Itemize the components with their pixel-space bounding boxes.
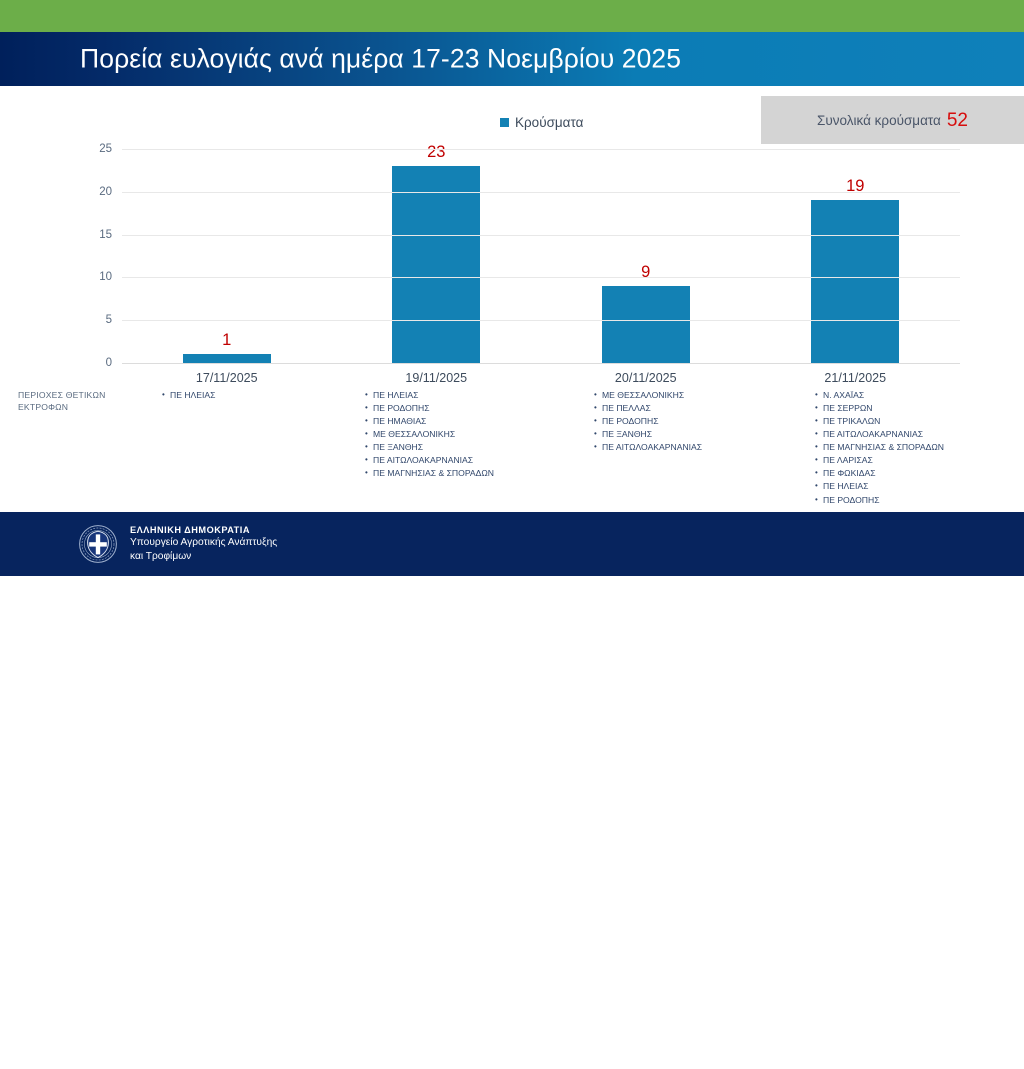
total-cases-value: 52 (947, 111, 968, 130)
region-list-item: ΠΕ ΜΑΓΝΗΣΙΑΣ & ΣΠΟΡΑΔΩΝ (823, 441, 944, 454)
bar-value-label: 19 (846, 177, 864, 196)
region-list-item: ΠΕ ΡΟΔΟΠΗΣ (602, 415, 702, 428)
bar-value-label: 1 (222, 331, 231, 350)
region-list: ΠΕ ΗΛΕΙΑΣ (160, 389, 215, 402)
square-swatch-icon (500, 118, 509, 127)
total-cases-badge: Συνολικά κρούσματα 52 (761, 96, 1024, 144)
bar-slot: 2319/11/2025 (332, 149, 542, 363)
region-list-20-11: ΜΕ ΘΕΣΣΑΛΟΝΙΚΗΣΠΕ ΠΕΛΛΑΣΠΕ ΡΟΔΟΠΗΣΠΕ ΞΑΝ… (592, 389, 702, 454)
bar[interactable] (392, 166, 480, 363)
x-axis-tick: 21/11/2025 (824, 371, 886, 385)
region-list-item: ΜΕ ΘΕΣΣΑΛΟΝΙΚΗΣ (602, 389, 702, 402)
chart-gridline: 20 (122, 192, 960, 193)
y-axis-tick: 5 (106, 314, 112, 326)
region-list-item: ΜΕ ΘΕΣΣΑΛΟΝΙΚΗΣ (373, 428, 494, 441)
ministry-line-1: ΕΛΛΗΝΙΚΗ ΔΗΜΟΚΡΑΤΙΑ (130, 524, 277, 536)
region-list-item: ΠΕ ΦΩΚΙΔΑΣ (823, 467, 944, 480)
page-title: Πορεία ευλογιάς ανά ημέρα 17-23 Νοεμβρίο… (80, 44, 681, 75)
region-list-item: ΠΕ ΡΟΔΟΠΗΣ (373, 402, 494, 415)
chart-gridline: 25 (122, 149, 960, 150)
chart-plot-area: 117/11/20252319/11/2025920/11/20251921/1… (122, 149, 960, 363)
chart-bars: 117/11/20252319/11/2025920/11/20251921/1… (122, 149, 960, 363)
greek-coat-of-arms-icon (78, 524, 118, 564)
region-list-item: ΠΕ ΞΑΝΘΗΣ (373, 441, 494, 454)
bar-slot: 117/11/2025 (122, 149, 332, 363)
y-axis-tick: 0 (106, 357, 112, 369)
title-bar: Πορεία ευλογιάς ανά ημέρα 17-23 Νοεμβρίο… (0, 32, 1024, 86)
bar-chart: 117/11/20252319/11/2025920/11/20251921/1… (60, 145, 960, 363)
chart-legend: Κρούσματα (500, 115, 583, 130)
chart-gridline: 15 (122, 235, 960, 236)
region-list-item: ΠΕ ΤΡΙΚΑΛΩΝ (823, 415, 944, 428)
region-list-21-11: Ν. ΑΧΑΪΑΣΠΕ ΣΕΡΡΩΝΠΕ ΤΡΙΚΑΛΩΝΠΕ ΑΙΤΩΛΟΑΚ… (813, 389, 944, 507)
total-cases-label: Συνολικά κρούσματα (817, 113, 941, 128)
committee-line-2: Διαχείρισης και Ελέγχου της Ευλογιάς (788, 1054, 948, 1068)
y-axis-tick: 20 (99, 186, 112, 198)
ministry-line-3: και Τροφίμων (130, 550, 277, 564)
legend-series-label: Κρούσματα (515, 115, 583, 130)
chart-gridline: 0 (122, 363, 960, 364)
slide-root: Πορεία ευλογιάς ανά ημέρα 17-23 Νοεμβρίο… (0, 0, 1024, 576)
region-list-item: Ν. ΑΧΑΪΑΣ (823, 389, 944, 402)
region-list-item: ΠΕ ΠΕΛΛΑΣ (602, 402, 702, 415)
region-list-item: ΠΕ ΞΑΝΘΗΣ (602, 428, 702, 441)
committee-line-1: Εθνική Επιστημονική Επιτροπή (788, 1040, 948, 1054)
region-list: ΜΕ ΘΕΣΣΑΛΟΝΙΚΗΣΠΕ ΠΕΛΛΑΣΠΕ ΡΟΔΟΠΗΣΠΕ ΞΑΝ… (592, 389, 702, 454)
region-list-item: ΠΕ ΗΜΑΘΙΑΣ (373, 415, 494, 428)
bar-slot: 920/11/2025 (541, 149, 751, 363)
region-list-19-11: ΠΕ ΗΛΕΙΑΣΠΕ ΡΟΔΟΠΗΣΠΕ ΗΜΑΘΙΑΣΜΕ ΘΕΣΣΑΛΟΝ… (363, 389, 494, 480)
region-list-item: ΠΕ ΑΙΤΩΛΟΑΚΑΡΝΑΝΙΑΣ (602, 441, 702, 454)
region-list-item: ΠΕ ΗΛΕΙΑΣ (373, 389, 494, 402)
y-axis-tick: 10 (99, 271, 112, 283)
bar-value-label: 23 (427, 143, 445, 162)
ministry-line-2: Υπουργείο Αγροτικής Ανάπτυξης (130, 536, 277, 550)
bar[interactable] (602, 286, 690, 363)
x-axis-tick: 20/11/2025 (615, 371, 677, 385)
region-list-item: ΠΕ ΗΛΕΙΑΣ (823, 480, 944, 493)
region-list: Ν. ΑΧΑΪΑΣΠΕ ΣΕΡΡΩΝΠΕ ΤΡΙΚΑΛΩΝΠΕ ΑΙΤΩΛΟΑΚ… (813, 389, 944, 507)
region-list: ΠΕ ΗΛΕΙΑΣΠΕ ΡΟΔΟΠΗΣΠΕ ΗΜΑΘΙΑΣΜΕ ΘΕΣΣΑΛΟΝ… (363, 389, 494, 480)
committee-text: Εθνική Επιστημονική Επιτροπή Διαχείρισης… (788, 1040, 948, 1069)
footer-bar: ΕΛΛΗΝΙΚΗ ΔΗΜΟΚΡΑΤΙΑ Υπουργείο Αγροτικής … (0, 512, 1024, 576)
x-axis-tick: 17/11/2025 (196, 371, 258, 385)
regions-caption: ΠΕΡΙΟΧΕΣ ΘΕΤΙΚΩΝ ΕΚΤΡΟΦΩΝ (18, 389, 138, 414)
y-axis-tick: 25 (99, 143, 112, 155)
bar[interactable] (811, 200, 899, 363)
chart-gridline: 10 (122, 277, 960, 278)
region-list-17-11: ΠΕ ΗΛΕΙΑΣ (160, 389, 215, 402)
bar-slot: 1921/11/2025 (751, 149, 961, 363)
region-list-item: ΠΕ ΜΑΓΝΗΣΙΑΣ & ΣΠΟΡΑΔΩΝ (373, 467, 494, 480)
region-list-item: ΠΕ ΗΛΕΙΑΣ (170, 389, 215, 402)
region-list-item: ΠΕ ΑΙΤΩΛΟΑΚΑΡΝΑΝΙΑΣ (823, 428, 944, 441)
x-axis-tick: 19/11/2025 (405, 371, 467, 385)
region-list-item: ΠΕ ΣΕΡΡΩΝ (823, 402, 944, 415)
region-list-item: ΠΕ ΡΟΔΟΠΗΣ (823, 494, 944, 507)
ministry-brand: ΕΛΛΗΝΙΚΗ ΔΗΜΟΚΡΑΤΙΑ Υπουργείο Αγροτικής … (78, 524, 277, 564)
bar[interactable] (183, 354, 271, 363)
chart-gridline: 5 (122, 320, 960, 321)
top-accent-bar (0, 0, 1024, 32)
y-axis-tick: 15 (99, 229, 112, 241)
bar-value-label: 9 (641, 263, 650, 282)
ministry-text: ΕΛΛΗΝΙΚΗ ΔΗΜΟΚΡΑΤΙΑ Υπουργείο Αγροτικής … (130, 524, 277, 564)
region-list-item: ΠΕ ΛΑΡΙΣΑΣ (823, 454, 944, 467)
region-list-item: ΠΕ ΑΙΤΩΛΟΑΚΑΡΝΑΝΙΑΣ (373, 454, 494, 467)
